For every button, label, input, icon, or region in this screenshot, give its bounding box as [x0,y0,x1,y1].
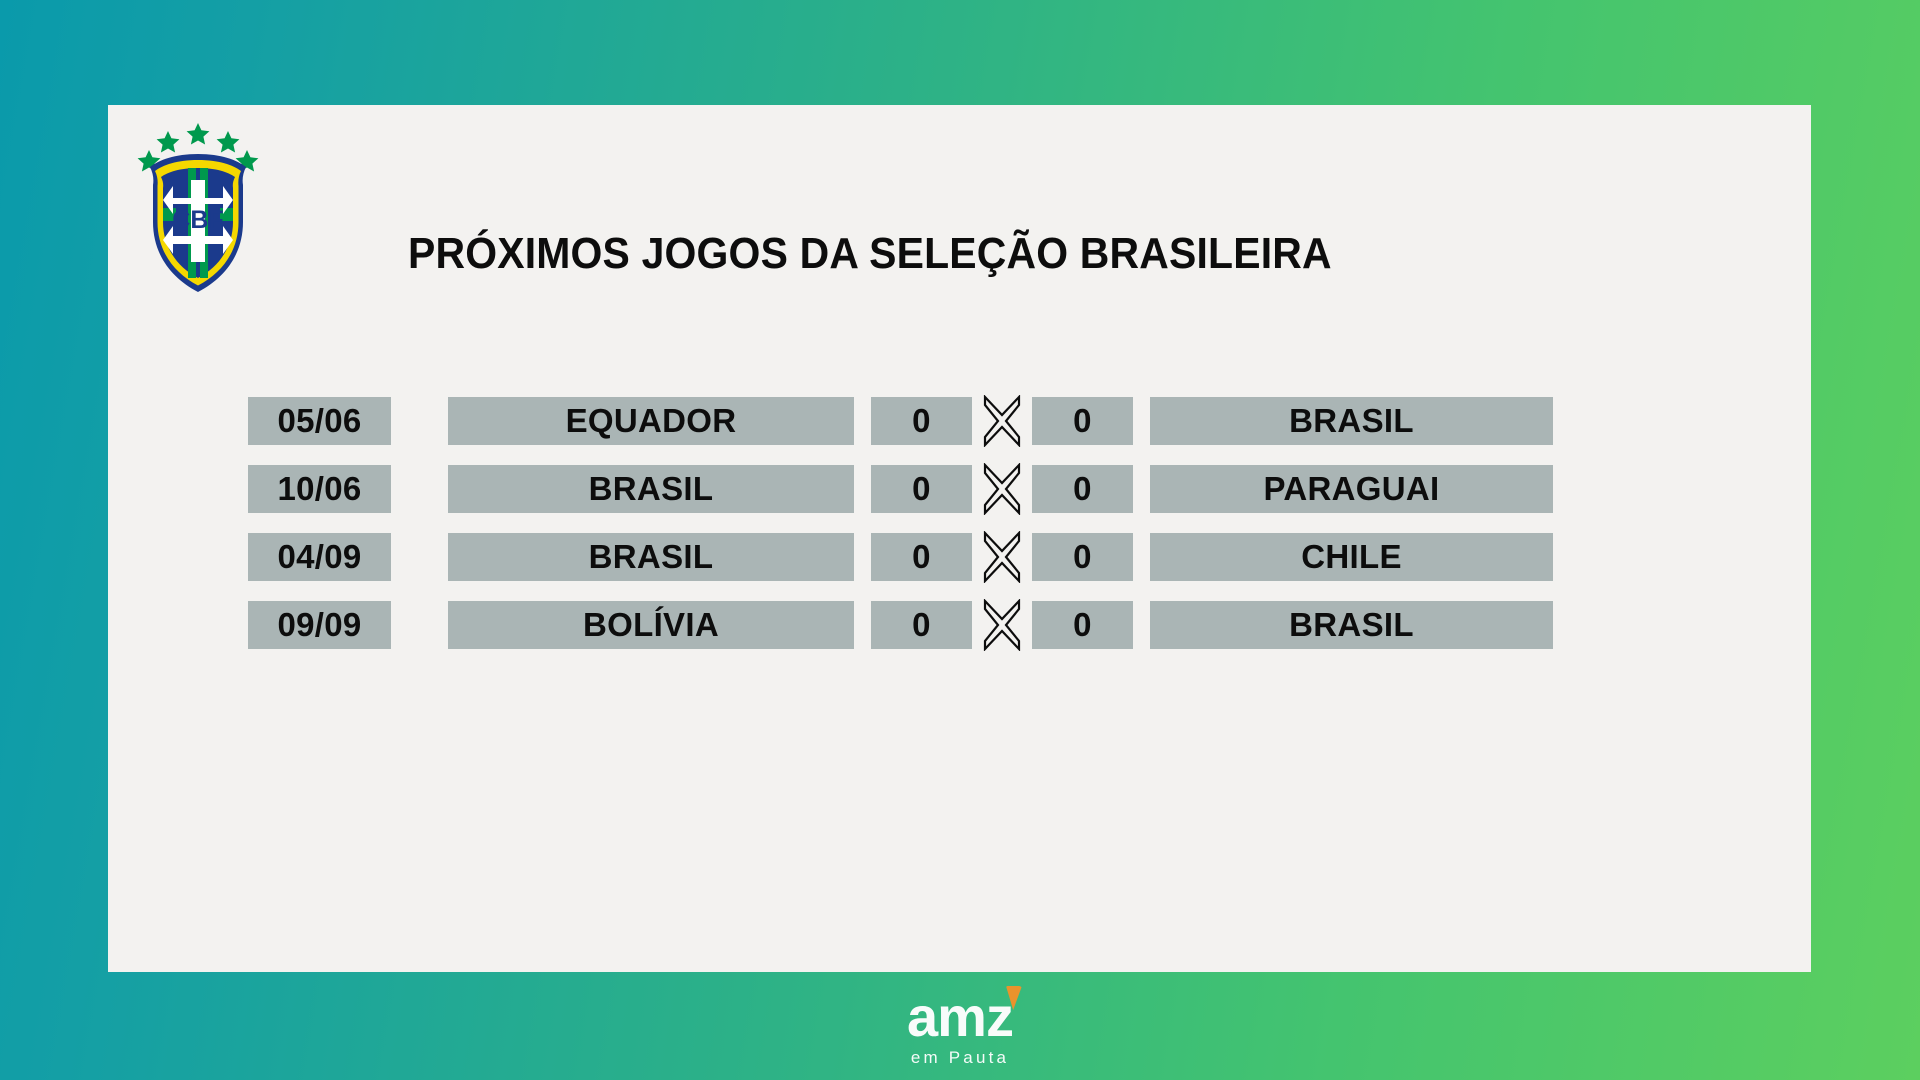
watermark-wordmark: amz [907,989,1013,1045]
fixture-date: 09/09 [248,601,391,649]
fixture-date: 04/09 [248,533,391,581]
versus-x-icon [972,393,1032,449]
versus-x-icon [972,461,1032,517]
fixture-away-score: 0 [1032,397,1133,445]
card-header: CBF PRÓXIMOS JOGOS DA SELEÇÃO BRASILEIRA [108,105,1811,320]
fixture-away-team: PARAGUAI [1150,465,1553,513]
table-row: 05/06 EQUADOR 0 0 BRASIL [248,390,1673,452]
fixture-home-score: 0 [871,601,972,649]
crest-cbf-text: CBF [172,206,223,234]
fixtures-list: 05/06 EQUADOR 0 0 BRASIL 10/06 BRASIL 0 … [248,390,1673,662]
table-row: 09/09 BOLÍVIA 0 0 BRASIL [248,594,1673,656]
fixture-home-team: BRASIL [448,465,854,513]
fixtures-card: CBF PRÓXIMOS JOGOS DA SELEÇÃO BRASILEIRA… [108,105,1811,972]
fixture-home-score: 0 [871,397,972,445]
watermark-accent-icon [1006,986,1022,1010]
fixture-away-team: CHILE [1150,533,1553,581]
fixture-away-score: 0 [1032,533,1133,581]
page-title: PRÓXIMOS JOGOS DA SELEÇÃO BRASILEIRA [408,229,1332,279]
cbf-crest-icon: CBF [133,110,263,295]
watermark-subtitle: em Pauta [911,1048,1009,1068]
table-row: 04/09 BRASIL 0 0 CHILE [248,526,1673,588]
fixture-away-score: 0 [1032,465,1133,513]
fixture-home-score: 0 [871,533,972,581]
fixture-date: 05/06 [248,397,391,445]
fixture-home-score: 0 [871,465,972,513]
fixture-date: 10/06 [248,465,391,513]
fixture-home-team: BRASIL [448,533,854,581]
versus-x-icon [972,529,1032,585]
fixture-home-team: EQUADOR [448,397,854,445]
amz-watermark: amz em Pauta [0,989,1920,1068]
fixture-away-team: BRASIL [1150,397,1553,445]
versus-x-icon [972,597,1032,653]
fixture-away-team: BRASIL [1150,601,1553,649]
fixture-home-team: BOLÍVIA [448,601,854,649]
watermark-word-text: amz [907,985,1013,1048]
table-row: 10/06 BRASIL 0 0 PARAGUAI [248,458,1673,520]
fixture-away-score: 0 [1032,601,1133,649]
